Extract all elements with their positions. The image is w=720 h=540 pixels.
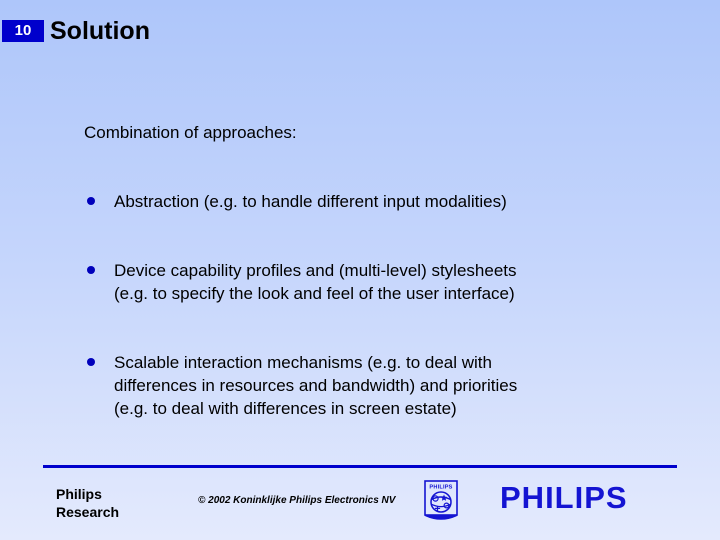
list-item-text: Abstraction (e.g. to handle different in…: [114, 190, 664, 213]
list-item-line: Device capability profiles and (multi-le…: [114, 259, 664, 282]
list-item: Device capability profiles and (multi-le…: [84, 259, 664, 305]
copyright-text: © 2002 Koninklijke Philips Electronics N…: [198, 495, 395, 506]
list-item-line: Abstraction (e.g. to handle different in…: [114, 190, 664, 213]
list-item-line: Scalable interaction mechanisms (e.g. to…: [114, 351, 664, 374]
slide-canvas: 10 Solution Combination of approaches: A…: [0, 0, 720, 540]
svg-text:PHILIPS: PHILIPS: [429, 485, 452, 491]
footer-brand-line-1: Philips: [56, 485, 119, 503]
list-item-line: (e.g. to deal with differences in screen…: [114, 397, 664, 420]
list-item-line: differences in resources and bandwidth) …: [114, 374, 664, 397]
list-item: Scalable interaction mechanisms (e.g. to…: [84, 351, 664, 420]
footer-divider: [43, 465, 677, 468]
list-item-line: (e.g. to specify the look and feel of th…: [114, 282, 664, 305]
footer-brand-line-2: Research: [56, 503, 119, 521]
list-item: Abstraction (e.g. to handle different in…: [84, 190, 664, 213]
list-item-text: Device capability profiles and (multi-le…: [114, 259, 664, 305]
slide-body: Combination of approaches: Abstraction (…: [0, 0, 720, 540]
list-item-text: Scalable interaction mechanisms (e.g. to…: [114, 351, 664, 420]
bullet-dot-icon: [87, 197, 95, 205]
bullet-dot-icon: [87, 358, 95, 366]
philips-wordmark: PHILIPS: [500, 480, 628, 516]
intro-text: Combination of approaches:: [84, 122, 297, 144]
bullet-dot-icon: [87, 266, 95, 274]
footer-brand-text: Philips Research: [56, 485, 119, 521]
philips-shield-icon: PHILIPS: [424, 480, 458, 522]
